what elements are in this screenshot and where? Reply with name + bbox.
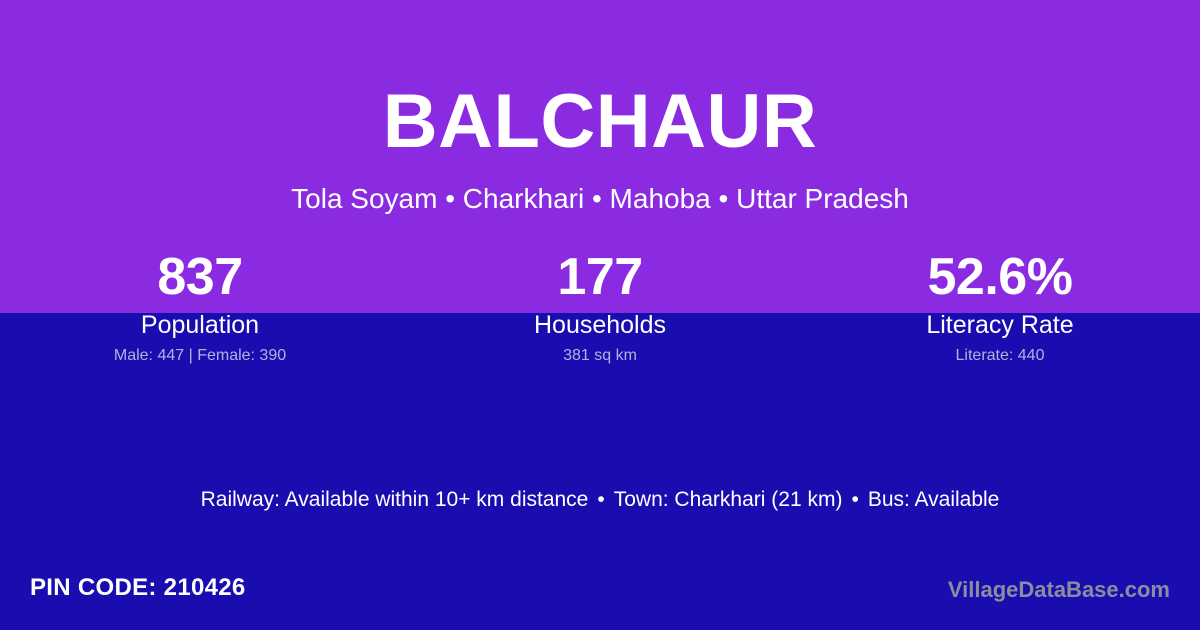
stat-value-literacy: 52.6% — [800, 248, 1200, 306]
stat-value-households: 177 — [400, 248, 800, 306]
stat-label-population: Population — [0, 311, 400, 339]
connectivity-info-row: Railway: Available within 10+ km distanc… — [0, 487, 1200, 513]
stat-card-households: 177 Households 381 sq km — [400, 248, 800, 365]
stat-value-population: 837 — [0, 248, 400, 306]
village-info-card: BALCHAUR Tola Soyam • Charkhari • Mahoba… — [0, 0, 1200, 630]
breadcrumb: Tola Soyam • Charkhari • Mahoba • Uttar … — [0, 182, 1200, 216]
pin-code: PIN CODE: 210426 — [30, 574, 246, 602]
site-logo: VillageDataBase.com — [948, 577, 1170, 603]
stat-card-population: 837 Population Male: 447 | Female: 390 — [0, 248, 400, 365]
stat-sub-literacy: Literate: 440 — [800, 347, 1200, 365]
stats-row: 837 Population Male: 447 | Female: 390 1… — [0, 248, 1200, 365]
info-town: Town: Charkhari (21 km) — [614, 488, 843, 511]
stat-label-literacy: Literacy Rate — [800, 311, 1200, 339]
stat-label-households: Households — [400, 311, 800, 339]
info-bus: Bus: Available — [868, 488, 1000, 511]
stat-card-literacy: 52.6% Literacy Rate Literate: 440 — [800, 248, 1200, 365]
info-separator-1: • — [588, 487, 613, 513]
page-title: BALCHAUR — [0, 84, 1200, 160]
stat-sub-population: Male: 447 | Female: 390 — [0, 347, 400, 365]
footer: PIN CODE: 210426 VillageDataBase.com — [0, 560, 1200, 630]
info-separator-2: • — [842, 487, 867, 513]
info-railway: Railway: Available within 10+ km distanc… — [201, 488, 589, 511]
stat-sub-households: 381 sq km — [400, 347, 800, 365]
